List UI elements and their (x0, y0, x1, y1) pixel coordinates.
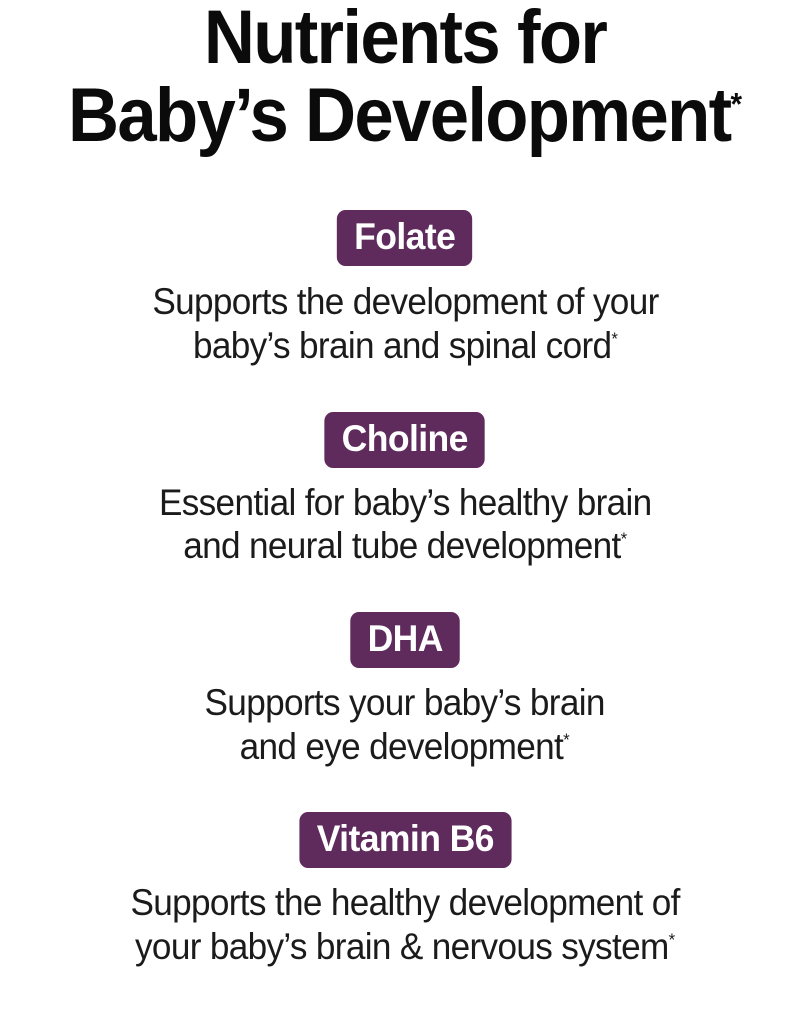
nutrient-footnote-marker-dha: * (563, 729, 570, 749)
nutrient-list: Folate Supports the development of your … (0, 210, 810, 968)
page-title-line-1: Nutrients for (28, 2, 781, 74)
nutrient-description-folate: Supports the development of your baby’s … (152, 280, 658, 367)
nutrient-description-vitamin-b6-line-2: your baby’s brain & nervous system* (130, 925, 679, 969)
nutrient-footnote-marker-vitamin-b6: * (668, 930, 675, 950)
nutrient-description-vitamin-b6: Supports the healthy development of your… (130, 881, 679, 968)
page-title: Nutrients for Baby’s Development* (0, 0, 810, 152)
page-title-line-2: Baby’s Development* (28, 80, 781, 152)
nutrient-description-dha: Supports your baby’s brain and eye devel… (205, 681, 605, 768)
nutrient-item-vitamin-b6: Vitamin B6 Supports the healthy developm… (0, 812, 810, 968)
nutrient-item-dha: DHA Supports your baby’s brain and eye d… (0, 612, 810, 768)
nutrient-description-vitamin-b6-line-2-text: your baby’s brain & nervous system (135, 926, 669, 967)
page-title-line-2-text: Baby’s Development (68, 73, 730, 158)
nutrient-item-folate: Folate Supports the development of your … (0, 210, 810, 367)
nutrient-description-choline-line-2-text: and neural tube development (183, 525, 620, 566)
nutrient-description-choline-line-1: Essential for baby’s healthy brain (159, 481, 652, 525)
nutrient-description-folate-line-2: baby’s brain and spinal cord* (152, 324, 658, 368)
nutrient-item-choline: Choline Essential for baby’s healthy bra… (0, 412, 810, 568)
nutrient-badge-folate: Folate (337, 210, 473, 266)
nutrient-description-folate-line-2-text: baby’s brain and spinal cord (192, 325, 610, 366)
nutrient-description-vitamin-b6-line-1: Supports the healthy development of (130, 881, 679, 925)
nutrient-description-dha-line-2: and eye development* (205, 725, 605, 769)
nutrient-footnote-marker-folate: * (611, 329, 618, 349)
nutrient-description-folate-line-1: Supports the development of your (152, 280, 658, 324)
nutrient-footnote-marker-choline: * (620, 529, 627, 549)
page-title-footnote-marker: * (730, 86, 742, 122)
nutrient-description-dha-line-2-text: and eye development (240, 726, 563, 767)
nutrient-description-choline: Essential for baby’s healthy brain and n… (159, 481, 652, 568)
nutrient-badge-vitamin-b6: Vitamin B6 (299, 812, 511, 868)
nutrient-description-dha-line-1: Supports your baby’s brain (205, 681, 605, 725)
nutrient-badge-dha: DHA (350, 612, 460, 668)
nutrient-description-choline-line-2: and neural tube development* (159, 524, 652, 568)
nutrient-infographic: Nutrients for Baby’s Development* Folate… (0, 0, 810, 1024)
nutrient-badge-choline: Choline (325, 412, 486, 468)
